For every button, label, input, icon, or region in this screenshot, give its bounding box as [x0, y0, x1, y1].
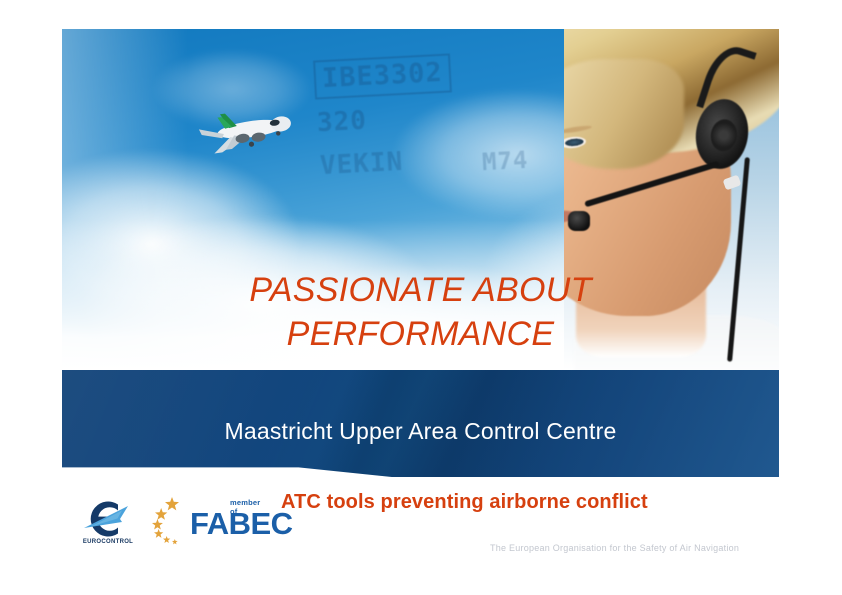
title-banner: Maastricht Upper Area Control Centre	[62, 370, 779, 477]
presentation-slide: IBE3302 320 VEKIN M74	[0, 0, 842, 595]
footer-headline: ATC tools preventing airborne conflict	[281, 491, 648, 514]
fabec-logo: member of FABEC	[148, 495, 270, 547]
page-title-line-2: PERFORMANCE	[62, 312, 779, 356]
radar-callsign-label: IBE3302	[313, 53, 452, 99]
eurocontrol-wordmark: EUROCONTROL	[78, 539, 138, 545]
fabec-stars-icon	[148, 495, 196, 547]
headset-microphone-icon	[568, 211, 590, 231]
slide-footer: EUROCONTROL member of FABEC ATC tools pr…	[0, 477, 842, 595]
footer-tagline: The European Organisation for the Safety…	[490, 543, 739, 553]
radar-flight-level-label: 320	[316, 106, 367, 139]
eurocontrol-logo: EUROCONTROL	[78, 498, 138, 548]
portrait-hair-front	[564, 59, 684, 169]
fabec-wordmark: FABEC	[190, 508, 293, 539]
page-title: PASSIONATE ABOUT PERFORMANCE	[62, 268, 779, 356]
radar-route-label: M74	[481, 146, 529, 176]
radar-waypoint-label: VEKIN	[319, 147, 404, 181]
banner-title: Maastricht Upper Area Control Centre	[62, 418, 779, 445]
page-title-line-1: PASSIONATE ABOUT	[62, 268, 779, 312]
eurocontrol-mark-icon	[78, 498, 138, 540]
